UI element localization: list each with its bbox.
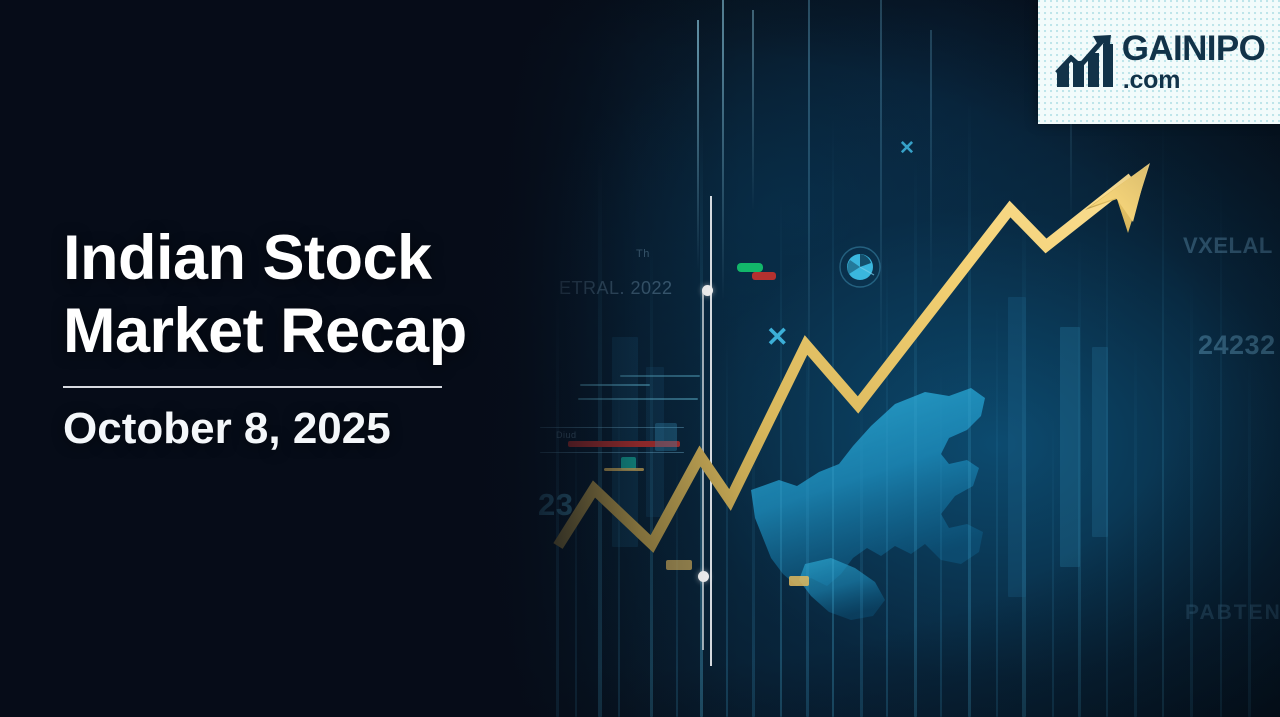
title-divider xyxy=(63,386,442,388)
bar-chart-arrow-up-icon xyxy=(1053,33,1115,91)
brand-logo-card[interactable]: GAINIPO .com xyxy=(1038,0,1280,124)
brand-tld: .com xyxy=(1123,68,1181,93)
page-title-line-1: Indian Stock xyxy=(63,223,432,293)
headline-block: Indian Stock Market Recap October 8, 202… xyxy=(63,222,583,454)
brand-wordmark: GAINIPO .com xyxy=(1122,31,1266,93)
page-date: October 8, 2025 xyxy=(63,404,583,454)
brand-name: GAINIPO xyxy=(1122,31,1266,66)
page-title: Indian Stock Market Recap xyxy=(63,222,583,368)
poster-canvas: ✕ ✕ Th ETRAL. 2022 23 Diud VXELAL 24232 … xyxy=(0,0,1280,717)
page-title-line-2: Market Recap xyxy=(63,295,583,368)
